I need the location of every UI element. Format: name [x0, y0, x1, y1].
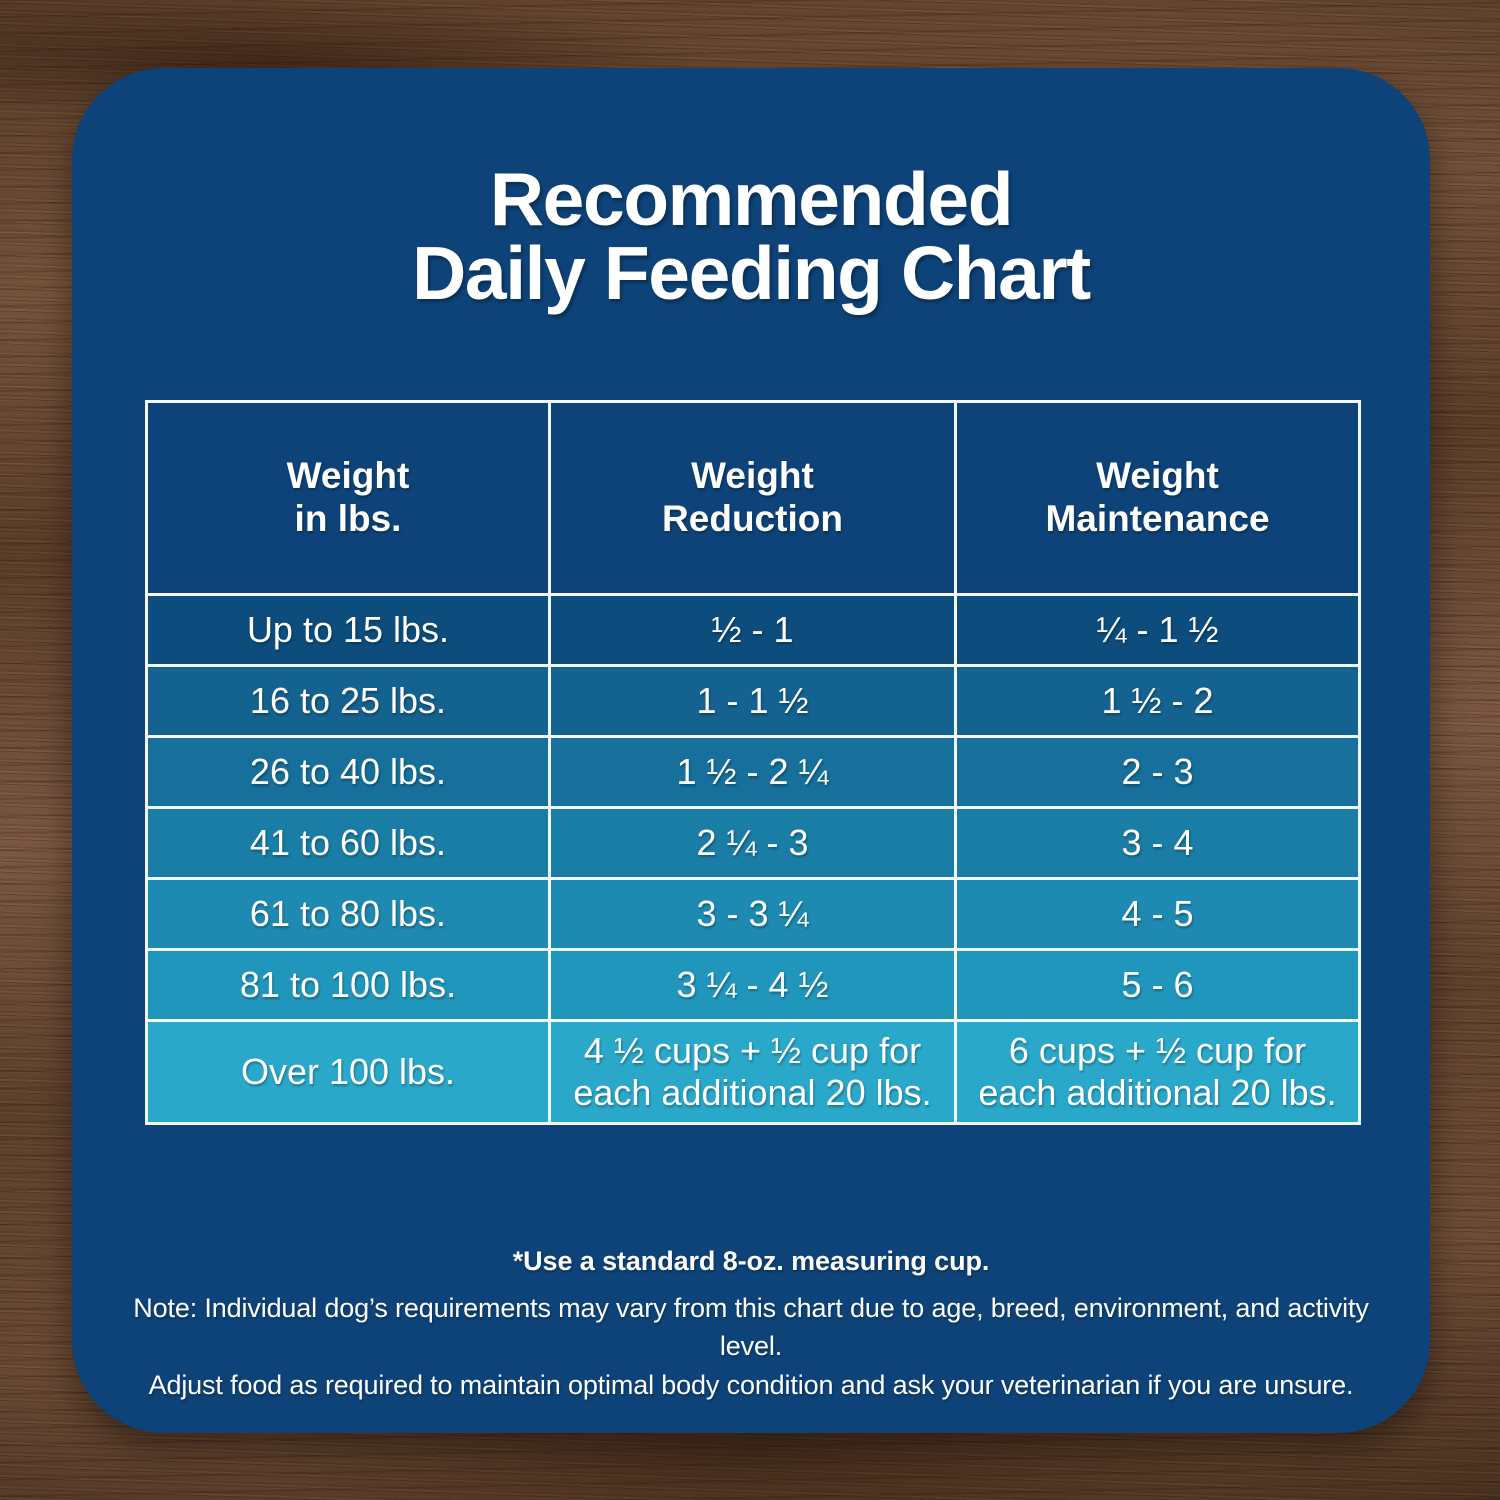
cell-reduction-line-1: 4 ½ cups + ½ cup for	[551, 1030, 954, 1072]
cell-maintenance: 3 - 4	[957, 809, 1361, 880]
cell-reduction: 3 ¼ - 4 ½	[551, 951, 957, 1022]
cell-weight: 26 to 40 lbs.	[145, 738, 551, 809]
page-title-line-2: Daily Feeding Chart	[132, 236, 1370, 310]
table-row: Up to 15 lbs. ½ - 1 ¼ - 1 ½	[145, 596, 1361, 667]
table-row: 26 to 40 lbs. 1 ½ - 2 ¼ 2 - 3	[145, 738, 1361, 809]
column-header-weight-line-2: in lbs.	[148, 498, 548, 541]
cell-reduction: 3 - 3 ¼	[551, 880, 957, 951]
column-header-maintenance-line-2: Maintenance	[957, 498, 1358, 541]
footnote-measuring-cup: *Use a standard 8-oz. measuring cup.	[118, 1246, 1384, 1277]
page-title: Recommended Daily Feeding Chart	[72, 162, 1430, 311]
cell-weight: 16 to 25 lbs.	[145, 667, 551, 738]
table-header-row: Weight in lbs. Weight Reduction Weight M…	[145, 400, 1361, 596]
feeding-chart-card: Recommended Daily Feeding Chart Weight i…	[72, 68, 1430, 1433]
column-header-maintenance-line-1: Weight	[957, 455, 1358, 498]
cell-maintenance: 2 - 3	[957, 738, 1361, 809]
table-row: 61 to 80 lbs. 3 - 3 ¼ 4 - 5	[145, 880, 1361, 951]
feeding-chart-table: Weight in lbs. Weight Reduction Weight M…	[145, 400, 1361, 1125]
table-row: 41 to 60 lbs. 2 ¼ - 3 3 - 4	[145, 809, 1361, 880]
cell-reduction: 2 ¼ - 3	[551, 809, 957, 880]
column-header-weight-maintenance: Weight Maintenance	[957, 400, 1361, 596]
cell-maintenance-line-2: each additional 20 lbs.	[957, 1072, 1358, 1114]
table-row: Over 100 lbs. 4 ½ cups + ½ cup for each …	[145, 1022, 1361, 1125]
cell-weight: Over 100 lbs.	[145, 1022, 551, 1125]
column-header-reduction-line-1: Weight	[551, 455, 954, 498]
cell-maintenance: 5 - 6	[957, 951, 1361, 1022]
cell-maintenance: 6 cups + ½ cup for each additional 20 lb…	[957, 1022, 1361, 1125]
cell-weight: 81 to 100 lbs.	[145, 951, 551, 1022]
cell-maintenance: ¼ - 1 ½	[957, 596, 1361, 667]
cell-reduction: 1 ½ - 2 ¼	[551, 738, 957, 809]
cell-reduction: ½ - 1	[551, 596, 957, 667]
footnote-note-line-1: Note: Individual dog’s requirements may …	[118, 1289, 1384, 1366]
column-header-weight: Weight in lbs.	[145, 400, 551, 596]
table-row: 16 to 25 lbs. 1 - 1 ½ 1 ½ - 2	[145, 667, 1361, 738]
footnotes: *Use a standard 8-oz. measuring cup. Not…	[72, 1246, 1430, 1404]
cell-weight: 41 to 60 lbs.	[145, 809, 551, 880]
cell-weight: Up to 15 lbs.	[145, 596, 551, 667]
cell-weight: 61 to 80 lbs.	[145, 880, 551, 951]
footnote-note-line-2: Adjust food as required to maintain opti…	[118, 1366, 1384, 1404]
cell-maintenance: 1 ½ - 2	[957, 667, 1361, 738]
column-header-reduction-line-2: Reduction	[551, 498, 954, 541]
cell-reduction-line-2: each additional 20 lbs.	[551, 1072, 954, 1114]
column-header-weight-reduction: Weight Reduction	[551, 400, 957, 596]
cell-maintenance: 4 - 5	[957, 880, 1361, 951]
table-row: 81 to 100 lbs. 3 ¼ - 4 ½ 5 - 6	[145, 951, 1361, 1022]
cell-reduction: 4 ½ cups + ½ cup for each additional 20 …	[551, 1022, 957, 1125]
column-header-weight-line-1: Weight	[148, 455, 548, 498]
cell-maintenance-line-1: 6 cups + ½ cup for	[957, 1030, 1358, 1072]
cell-reduction: 1 - 1 ½	[551, 667, 957, 738]
page-title-line-1: Recommended	[132, 162, 1370, 236]
